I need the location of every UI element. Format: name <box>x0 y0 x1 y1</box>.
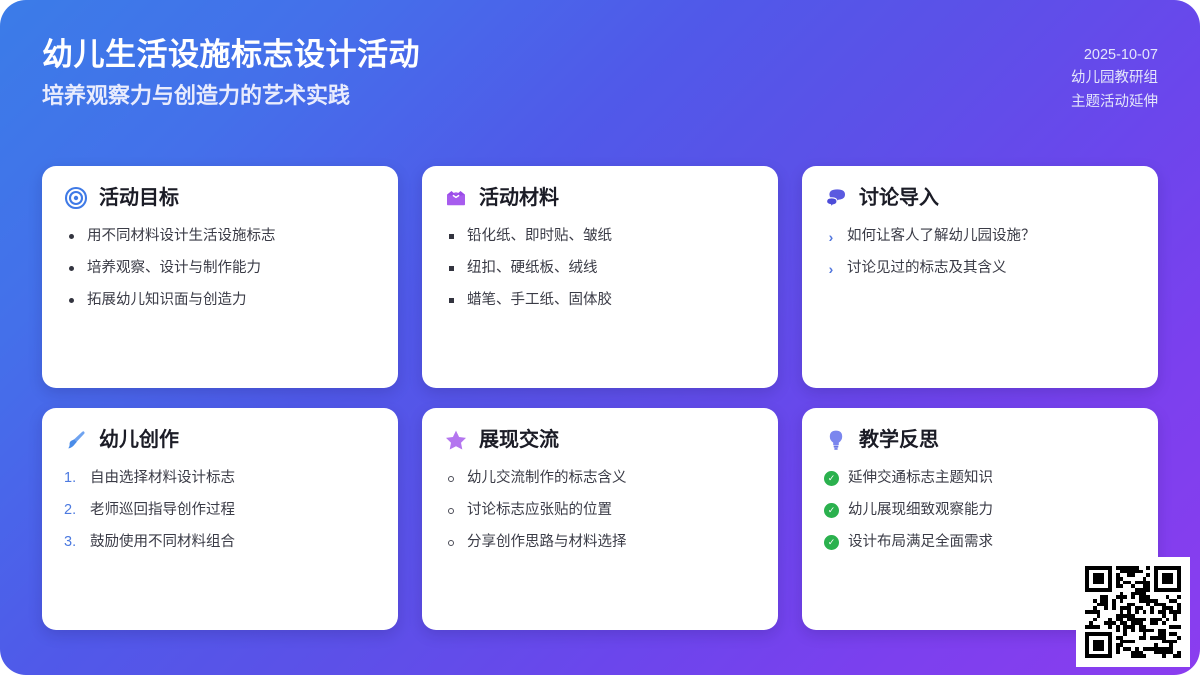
list-item: 纽扣、硬纸板、绒线 <box>444 258 756 279</box>
list-item-text: 鼓励使用不同材料组合 <box>90 532 235 553</box>
list-item-text: 拓展幼儿知识面与创造力 <box>87 290 247 311</box>
list-item-text: 设计布局满足全面需求 <box>848 532 993 553</box>
card-header: 幼儿创作 <box>64 428 376 452</box>
check-circle-icon: ✓ <box>824 471 839 486</box>
list-item: 幼儿交流制作的标志含义 <box>444 468 756 489</box>
slide-header: 幼儿生活设施标志设计活动 培养观察力与创造力的艺术实践 2025-10-07 幼… <box>0 0 1200 150</box>
list-item-text: 幼儿交流制作的标志含义 <box>467 468 627 489</box>
lightbulb-icon <box>824 428 848 452</box>
list-item: 蜡笔、手工纸、固体胶 <box>444 290 756 311</box>
list-item-text: 如何让客人了解幼儿园设施？ <box>847 226 1036 247</box>
list-item: 1. 自由选择材料设计标志 <box>64 468 376 489</box>
speech-bubbles-icon <box>824 186 848 210</box>
list-item: › 讨论见过的标志及其含义 <box>824 258 1136 279</box>
card-item-list: 幼儿交流制作的标志含义 讨论标志应张贴的位置 分享创作思路与材料选择 <box>444 468 756 553</box>
circle-bullet-icon <box>444 468 458 489</box>
card-showcase-exchange: 展现交流 幼儿交流制作的标志含义 讨论标志应张贴的位置 分享创作思路与材料选择 <box>422 408 778 630</box>
target-icon <box>64 186 88 210</box>
card-title: 教学反思 <box>859 430 939 450</box>
dot-bullet-icon <box>64 290 78 311</box>
list-item-text: 纽扣、硬纸板、绒线 <box>467 258 598 279</box>
card-item-list: › 如何让客人了解幼儿园设施？ › 讨论见过的标志及其含义 <box>824 226 1136 279</box>
list-item-text: 用不同材料设计生活设施标志 <box>87 226 276 247</box>
list-item: 铅化纸、即时贴、皱纸 <box>444 226 756 247</box>
card-header: 活动目标 <box>64 186 376 210</box>
qr-code-panel[interactable] <box>1076 557 1190 667</box>
list-item: 讨论标志应张贴的位置 <box>444 500 756 521</box>
chevron-right-icon: › <box>824 226 838 247</box>
list-item: ✓ 幼儿展现细致观察能力 <box>824 500 1136 521</box>
list-item-text: 铅化纸、即时贴、皱纸 <box>467 226 612 247</box>
dot-bullet-icon <box>64 226 78 247</box>
meta-date: 2025-10-07 <box>1084 44 1158 67</box>
card-item-list: 铅化纸、即时贴、皱纸 纽扣、硬纸板、绒线 蜡笔、手工纸、固体胶 <box>444 226 756 311</box>
circle-bullet-icon <box>444 500 458 521</box>
list-item-text: 老师巡回指导创作过程 <box>90 500 235 521</box>
list-item: 2. 老师巡回指导创作过程 <box>64 500 376 521</box>
list-item-text: 讨论标志应张贴的位置 <box>467 500 612 521</box>
list-item: ✓ 设计布局满足全面需求 <box>824 532 1136 553</box>
slide-canvas: 幼儿生活设施标志设计活动 培养观察力与创造力的艺术实践 2025-10-07 幼… <box>0 0 1200 675</box>
square-bullet-icon <box>444 290 458 311</box>
card-title: 幼儿创作 <box>99 430 179 450</box>
list-item: 培养观察、设计与制作能力 <box>64 258 376 279</box>
card-title: 讨论导入 <box>859 188 939 208</box>
number-bullet-icon: 3. <box>64 532 81 553</box>
list-item: ✓ 延伸交通标志主题知识 <box>824 468 1136 489</box>
card-item-list: ✓ 延伸交通标志主题知识 ✓ 幼儿展现细致观察能力 ✓ 设计布局满足全面需求 <box>824 468 1136 553</box>
square-bullet-icon <box>444 258 458 279</box>
card-title: 活动目标 <box>99 188 179 208</box>
list-item: 分享创作思路与材料选择 <box>444 532 756 553</box>
list-item: › 如何让客人了解幼儿园设施？ <box>824 226 1136 247</box>
page-title: 幼儿生活设施标志设计活动 <box>42 36 420 75</box>
check-circle-icon: ✓ <box>824 535 839 550</box>
number-bullet-icon: 2. <box>64 500 81 521</box>
list-item-text: 蜡笔、手工纸、固体胶 <box>467 290 612 311</box>
chevron-right-icon: › <box>824 258 838 279</box>
meta-organization: 幼儿园教研组 <box>1071 67 1158 90</box>
card-title: 展现交流 <box>479 430 559 450</box>
list-item-text: 自由选择材料设计标志 <box>90 468 235 489</box>
list-item-text: 延伸交通标志主题知识 <box>848 468 993 489</box>
dot-bullet-icon <box>64 258 78 279</box>
card-header: 讨论导入 <box>824 186 1136 210</box>
card-grid: 活动目标 用不同材料设计生活设施标志 培养观察、设计与制作能力 拓展幼儿知识面与… <box>42 166 1158 630</box>
meta-category: 主题活动延伸 <box>1071 91 1158 114</box>
paintbrush-icon <box>64 428 88 452</box>
square-bullet-icon <box>444 226 458 247</box>
card-item-list: 1. 自由选择材料设计标志 2. 老师巡回指导创作过程 3. 鼓励使用不同材料组… <box>64 468 376 553</box>
list-item: 用不同材料设计生活设施标志 <box>64 226 376 247</box>
page-subtitle: 培养观察力与创造力的艺术实践 <box>42 81 420 111</box>
list-item-text: 幼儿展现细致观察能力 <box>848 500 993 521</box>
number-bullet-icon: 1. <box>64 468 81 489</box>
header-meta: 2025-10-07 幼儿园教研组 主题活动延伸 <box>1071 36 1158 114</box>
card-item-list: 用不同材料设计生活设施标志 培养观察、设计与制作能力 拓展幼儿知识面与创造力 <box>64 226 376 311</box>
card-header: 教学反思 <box>824 428 1136 452</box>
card-title: 活动材料 <box>479 188 559 208</box>
card-discussion-intro: 讨论导入 › 如何让客人了解幼儿园设施？ › 讨论见过的标志及其含义 <box>802 166 1158 388</box>
title-block: 幼儿生活设施标志设计活动 培养观察力与创造力的艺术实践 <box>42 36 420 110</box>
list-item-text: 讨论见过的标志及其含义 <box>847 258 1007 279</box>
star-icon <box>444 428 468 452</box>
card-children-creation: 幼儿创作 1. 自由选择材料设计标志 2. 老师巡回指导创作过程 3. 鼓励使用… <box>42 408 398 630</box>
circle-bullet-icon <box>444 532 458 553</box>
card-activity-materials: 活动材料 铅化纸、即时贴、皱纸 纽扣、硬纸板、绒线 蜡笔、手工纸、固体胶 <box>422 166 778 388</box>
package-icon <box>444 186 468 210</box>
card-header: 活动材料 <box>444 186 756 210</box>
list-item: 3. 鼓励使用不同材料组合 <box>64 532 376 553</box>
card-header: 展现交流 <box>444 428 756 452</box>
list-item-text: 分享创作思路与材料选择 <box>467 532 627 553</box>
card-activity-goals: 活动目标 用不同材料设计生活设施标志 培养观察、设计与制作能力 拓展幼儿知识面与… <box>42 166 398 388</box>
check-circle-icon: ✓ <box>824 503 839 518</box>
list-item-text: 培养观察、设计与制作能力 <box>87 258 261 279</box>
list-item: 拓展幼儿知识面与创造力 <box>64 290 376 311</box>
qr-code[interactable] <box>1085 566 1181 658</box>
